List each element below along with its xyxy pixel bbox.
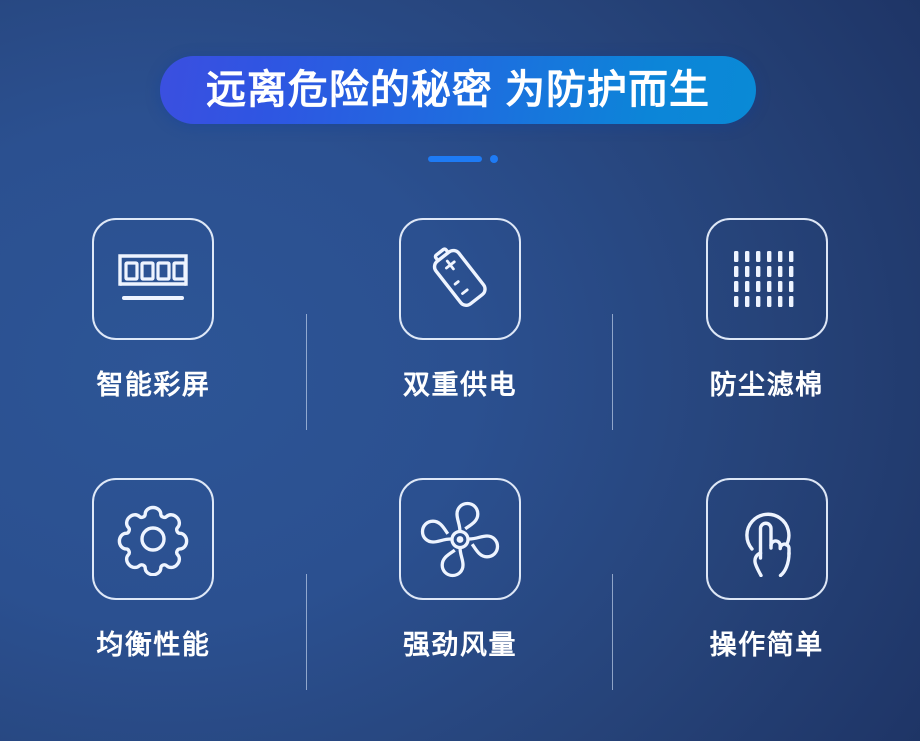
- feature-label: 均衡性能: [96, 632, 210, 659]
- feature-label: 智能彩屏: [96, 372, 210, 399]
- separator-bar-icon: [428, 156, 482, 162]
- feature-item-balanced-performance: 均衡性能: [0, 456, 307, 716]
- feature-item-simple-operation: 操作简单: [613, 456, 920, 716]
- icon-card: [399, 218, 521, 340]
- icon-card: [92, 478, 214, 600]
- page-title: 远离危险的秘密 为防护而生: [206, 70, 710, 110]
- title-banner: 远离危险的秘密 为防护而生: [160, 56, 756, 124]
- feature-label: 操作简单: [710, 632, 824, 659]
- promo-page: 远离危险的秘密 为防护而生: [0, 0, 920, 741]
- feature-label: 双重供电: [403, 372, 517, 399]
- touch-hand-icon: [729, 501, 805, 577]
- decorative-separator: [428, 152, 500, 166]
- fan-icon: [419, 500, 501, 578]
- feature-item-dust-filter: 防尘滤棉: [613, 196, 920, 456]
- battery-icon: [423, 242, 497, 316]
- icon-card: [92, 218, 214, 340]
- feature-label: 防尘滤棉: [710, 372, 824, 399]
- dust-filter-icon: [732, 249, 802, 309]
- icon-card: [399, 478, 521, 600]
- icon-card: [706, 478, 828, 600]
- feature-item-strong-airflow: 强劲风量: [307, 456, 614, 716]
- feature-item-dual-power: 双重供电: [307, 196, 614, 456]
- feature-item-smart-screen: 智能彩屏: [0, 196, 307, 456]
- gear-icon: [116, 502, 190, 576]
- lcd-display-icon: [114, 246, 192, 312]
- icon-card: [706, 218, 828, 340]
- feature-label: 强劲风量: [403, 632, 517, 659]
- feature-grid: 智能彩屏 双重供电: [0, 196, 920, 716]
- separator-dot-icon: [490, 155, 498, 163]
